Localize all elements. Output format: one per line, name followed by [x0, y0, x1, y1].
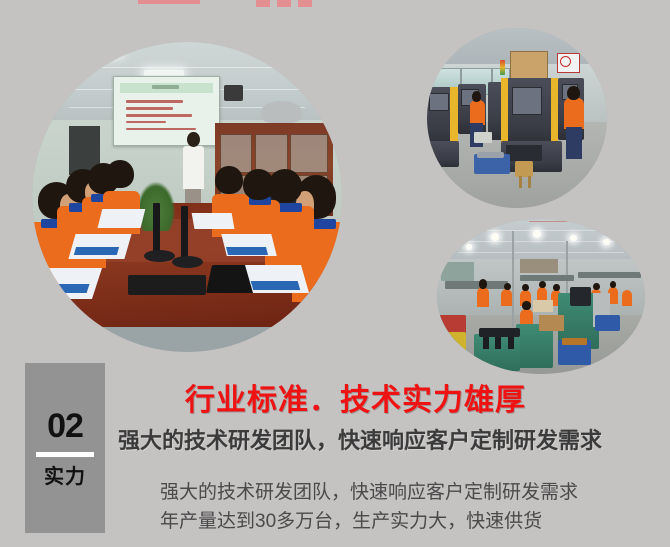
cutoff-fragment [138, 0, 200, 4]
body-text: 强大的技术研发团队，快速响应客户定制研发需求 年产量达到30多万台，生产实力大，… [160, 478, 578, 537]
badge-label: 实力 [44, 467, 86, 487]
body-line: 强大的技术研发团队，快速响应客户定制研发需求 [160, 478, 578, 507]
top-cutoff-fragments [0, 0, 670, 9]
photo-assembly-line [437, 219, 645, 374]
cutoff-fragment [298, 0, 312, 7]
body-line: 年产量达到30多万台，生产实力大，快速供货 [160, 507, 578, 536]
cutoff-fragment [256, 0, 270, 7]
badge-number: 02 [47, 409, 83, 443]
section-number-badge: 02 实力 [25, 363, 105, 533]
photo-cnc-workshop [427, 28, 607, 208]
promo-section: 02 实力 行业标准．技术实力雄厚 强大的技术研发团队，快速响应客户定制研发需求… [0, 0, 670, 547]
subheadline: 强大的技术研发团队，快速响应客户定制研发需求 [118, 430, 602, 452]
headline: 行业标准．技术实力雄厚 [185, 386, 526, 416]
badge-divider [36, 452, 94, 457]
cutoff-fragment [277, 0, 291, 7]
photo-meeting-room [32, 42, 342, 352]
